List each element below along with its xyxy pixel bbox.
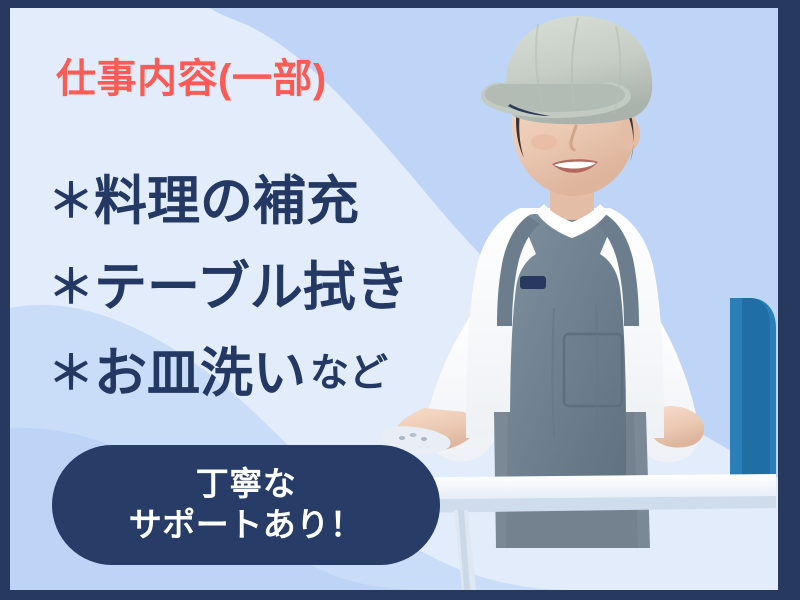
asterisk-icon: ＊ [48, 264, 94, 310]
asterisk-icon: ＊ [48, 350, 94, 396]
poster-frame: 仕事内容(一部) ＊ 料理の補充 ＊ テーブル拭き ＊ お皿洗い など 丁寧な … [0, 0, 800, 600]
task-label: テーブル拭き [94, 261, 409, 314]
poster-canvas: 仕事内容(一部) ＊ 料理の補充 ＊ テーブル拭き ＊ お皿洗い など 丁寧な … [10, 8, 778, 590]
task-label: 料理の補充 [94, 175, 359, 228]
task-label: お皿洗い [94, 347, 306, 400]
task-item-1: ＊ 料理の補充 [48, 158, 409, 244]
page-title: 仕事内容(一部) [56, 59, 327, 99]
task-item-3: ＊ お皿洗い など [48, 330, 409, 416]
badge-line-1: 丁寧な [196, 464, 297, 505]
status-badge: 丁寧な サポートあり！ [52, 445, 440, 565]
badge-line-2: サポートあり！ [129, 505, 364, 546]
task-list: ＊ 料理の補充 ＊ テーブル拭き ＊ お皿洗い など [48, 158, 409, 416]
task-suffix: など [310, 354, 388, 393]
asterisk-icon: ＊ [48, 178, 94, 224]
task-item-2: ＊ テーブル拭き [48, 244, 409, 330]
